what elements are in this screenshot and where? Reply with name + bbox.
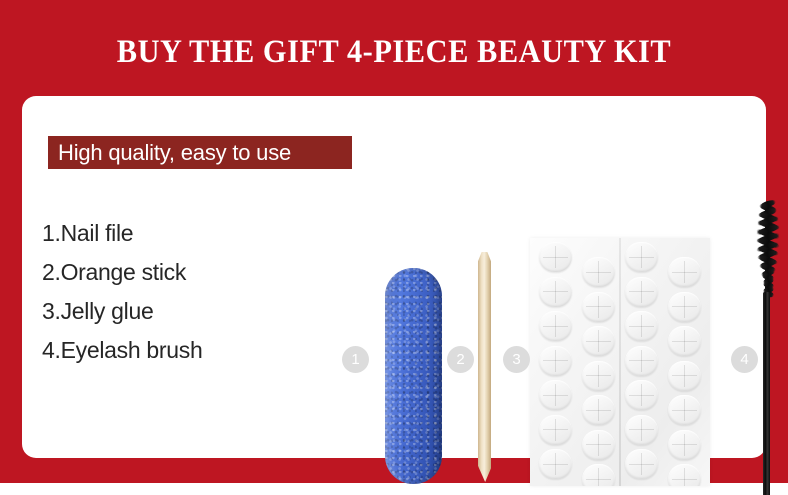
jelly-glue-tab <box>668 361 701 391</box>
eyelash-brush-head <box>756 200 780 296</box>
jelly-glue-sheet-image <box>530 238 710 486</box>
eyelash-brush-handle <box>763 292 770 495</box>
jelly-glue-tab <box>582 257 615 287</box>
jelly-glue-tab <box>582 464 615 486</box>
jelly-glue-tab <box>539 449 572 479</box>
jelly-glue-tab <box>668 326 701 356</box>
jelly-glue-tab <box>582 292 615 322</box>
list-item: 3.Jelly glue <box>42 292 342 331</box>
jelly-glue-tab <box>539 277 572 307</box>
jelly-glue-tab <box>668 464 701 486</box>
jelly-glue-tab <box>668 292 701 322</box>
nail-file-sheen <box>385 268 442 484</box>
product-poster: BUY THE GIFT 4-PIECE BEAUTY KIT High qua… <box>0 0 788 495</box>
jelly-glue-tab <box>539 311 572 341</box>
jelly-glue-tab <box>539 346 572 376</box>
quality-badge: High quality, easy to use <box>48 136 352 169</box>
jelly-glue-sheet-seam <box>619 238 621 486</box>
jelly-glue-tab <box>625 449 658 479</box>
jelly-glue-tab <box>625 380 658 410</box>
product-marker-4: 4 <box>731 346 758 373</box>
jelly-glue-tab <box>539 380 572 410</box>
page-title: BUY THE GIFT 4-PIECE BEAUTY KIT <box>32 34 757 71</box>
product-marker-3: 3 <box>503 346 530 373</box>
jelly-glue-tab <box>625 415 658 445</box>
quality-badge-label: High quality, easy to use <box>48 140 291 166</box>
jelly-glue-tab <box>582 326 615 356</box>
orange-stick-body <box>478 252 491 482</box>
list-item: 2.Orange stick <box>42 253 342 292</box>
jelly-glue-tab <box>539 415 572 445</box>
jelly-glue-tab <box>539 242 572 272</box>
nail-file-image <box>385 268 442 484</box>
product-card: High quality, easy to use 1.Nail file 2.… <box>22 96 766 458</box>
jelly-glue-tab <box>668 395 701 425</box>
jelly-glue-tab <box>625 346 658 376</box>
eyelash-brush-image <box>750 200 784 495</box>
jelly-glue-tab <box>668 257 701 287</box>
jelly-glue-tab <box>582 395 615 425</box>
jelly-glue-tab <box>625 311 658 341</box>
product-marker-2: 2 <box>447 346 474 373</box>
product-marker-1: 1 <box>342 346 369 373</box>
jelly-glue-tab <box>625 277 658 307</box>
list-item: 1.Nail file <box>42 214 342 253</box>
jelly-glue-tab <box>582 430 615 460</box>
feature-list: 1.Nail file 2.Orange stick 3.Jelly glue … <box>42 214 342 370</box>
jelly-glue-tab <box>668 430 701 460</box>
orange-stick-image <box>478 252 491 482</box>
jelly-glue-tab <box>582 361 615 391</box>
list-item: 4.Eyelash brush <box>42 331 342 370</box>
jelly-glue-tab <box>625 242 658 272</box>
